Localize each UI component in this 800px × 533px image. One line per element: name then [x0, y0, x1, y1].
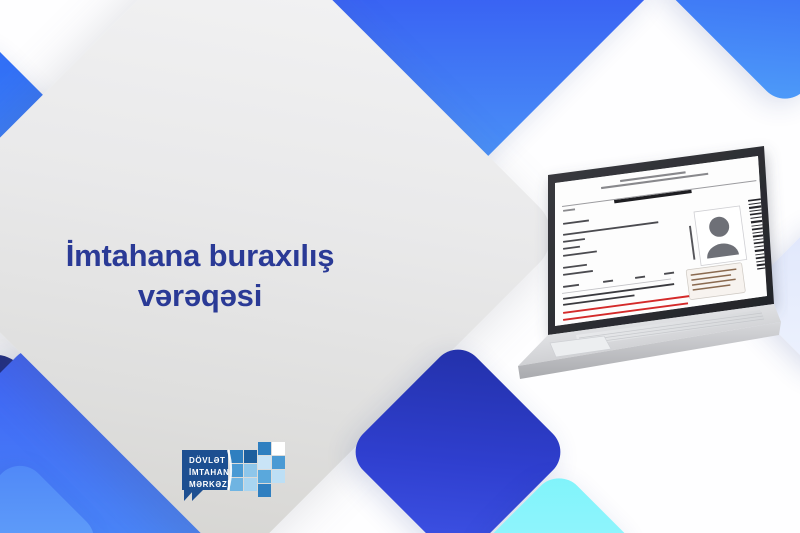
decor-diamond-top-right: [651, 0, 800, 109]
logo-text-line-2: İMTAHAN: [189, 468, 230, 477]
document-photo-placeholder: [694, 206, 747, 266]
laptop-device: [398, 130, 788, 410]
logo-pixel-tiles: [230, 442, 285, 497]
page-title-line-2: vərəqəsi: [0, 276, 400, 316]
document-red-stamp: [620, 375, 686, 386]
poster-canvas: İmtahana buraxılış vərəqəsi: [0, 0, 800, 533]
logo-text-line-3: MƏRKƏZİ: [189, 480, 230, 489]
dim-logo[interactable]: DÖVLƏT İMTAHAN MƏRKƏZİ: [178, 438, 294, 508]
laptop-illustration: [398, 130, 788, 410]
page-title: İmtahana buraxılış vərəqəsi: [0, 236, 400, 317]
page-title-line-1: İmtahana buraxılış: [66, 238, 335, 273]
logo-text-line-1: DÖVLƏT: [189, 456, 226, 465]
dim-logo-mark: DÖVLƏT İMTAHAN MƏRKƏZİ: [178, 438, 294, 508]
